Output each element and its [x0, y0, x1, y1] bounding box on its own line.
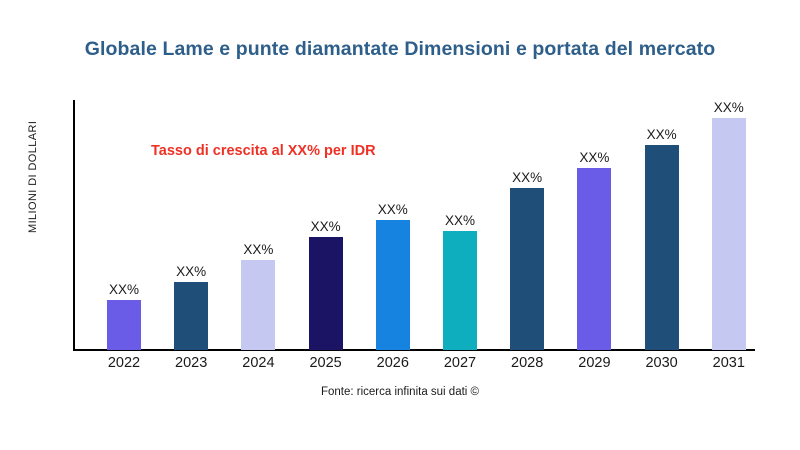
bar-rect-2025[interactable] [309, 237, 343, 350]
bar-2024[interactable]: XX% [241, 260, 275, 350]
bar-value-label-2026: XX% [363, 202, 423, 217]
bar-2029[interactable]: XX% [577, 168, 611, 350]
bar-rect-2026[interactable] [376, 220, 410, 350]
x-tick-label-2027: 2027 [430, 355, 490, 371]
bar-rect-2023[interactable] [174, 282, 208, 350]
bar-2023[interactable]: XX% [174, 282, 208, 350]
bar-value-label-2023: XX% [161, 264, 221, 279]
bar-value-label-2029: XX% [564, 150, 624, 165]
bars-layer: XX%XX%XX%XX%XX%XX%XX%XX%XX%XX% [73, 100, 780, 351]
x-tick-label-2029: 2029 [564, 355, 624, 371]
bar-2030[interactable]: XX% [645, 145, 679, 350]
bar-rect-2024[interactable] [241, 260, 275, 350]
chart-container: Globale Lame e punte diamantate Dimensio… [0, 0, 800, 450]
bar-rect-2027[interactable] [443, 231, 477, 350]
bar-value-label-2024: XX% [228, 242, 288, 257]
x-tick-label-2022: 2022 [94, 355, 154, 371]
bar-value-label-2028: XX% [497, 170, 557, 185]
x-tick-label-2023: 2023 [161, 355, 221, 371]
bar-rect-2031[interactable] [712, 118, 746, 350]
bar-2031[interactable]: XX% [712, 118, 746, 350]
x-tick-label-2028: 2028 [497, 355, 557, 371]
bar-value-label-2030: XX% [632, 127, 692, 142]
x-tick-label-2024: 2024 [228, 355, 288, 371]
bar-value-label-2027: XX% [430, 213, 490, 228]
bar-value-label-2022: XX% [94, 282, 154, 297]
bar-value-label-2031: XX% [699, 100, 759, 115]
x-tick-label-2025: 2025 [296, 355, 356, 371]
plot-area: Tasso di crescita al XX% per IDR XX%XX%X… [73, 100, 780, 351]
chart-title: Globale Lame e punte diamantate Dimensio… [0, 38, 800, 61]
bar-2027[interactable]: XX% [443, 231, 477, 350]
bar-2026[interactable]: XX% [376, 220, 410, 350]
bar-2025[interactable]: XX% [309, 237, 343, 350]
bar-rect-2022[interactable] [107, 300, 141, 350]
bar-value-label-2025: XX% [296, 219, 356, 234]
bar-rect-2030[interactable] [645, 145, 679, 350]
x-axis-tick-labels: 2022202320242025202620272028202920302031 [73, 355, 780, 379]
y-axis-label: MILIONI DI DOLLARI [22, 62, 44, 292]
x-tick-label-2026: 2026 [363, 355, 423, 371]
bar-2022[interactable]: XX% [107, 300, 141, 350]
x-tick-label-2031: 2031 [699, 355, 759, 371]
source-note: Fonte: ricerca infinita sui dati © [0, 386, 800, 398]
bar-rect-2028[interactable] [510, 188, 544, 350]
bar-2028[interactable]: XX% [510, 188, 544, 350]
bar-rect-2029[interactable] [577, 168, 611, 350]
x-tick-label-2030: 2030 [632, 355, 692, 371]
